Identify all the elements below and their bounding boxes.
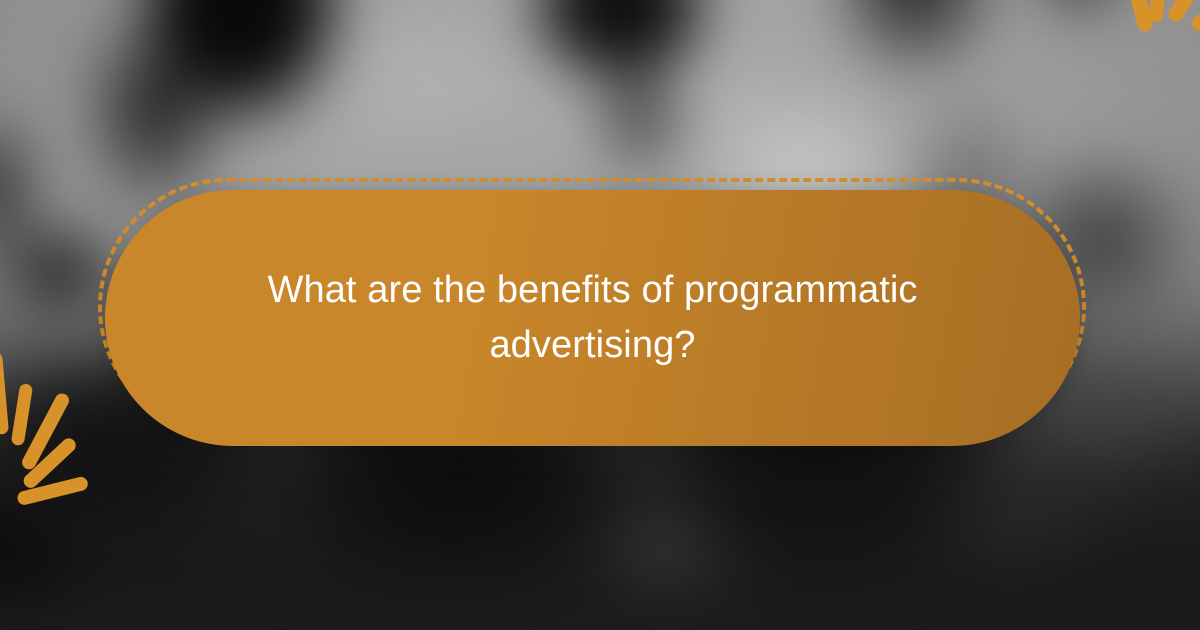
question-card-banner: What are the benefits of programmatic ad… bbox=[0, 0, 1200, 630]
question-text: What are the benefits of programmatic ad… bbox=[253, 263, 933, 374]
question-card: What are the benefits of programmatic ad… bbox=[105, 190, 1080, 446]
